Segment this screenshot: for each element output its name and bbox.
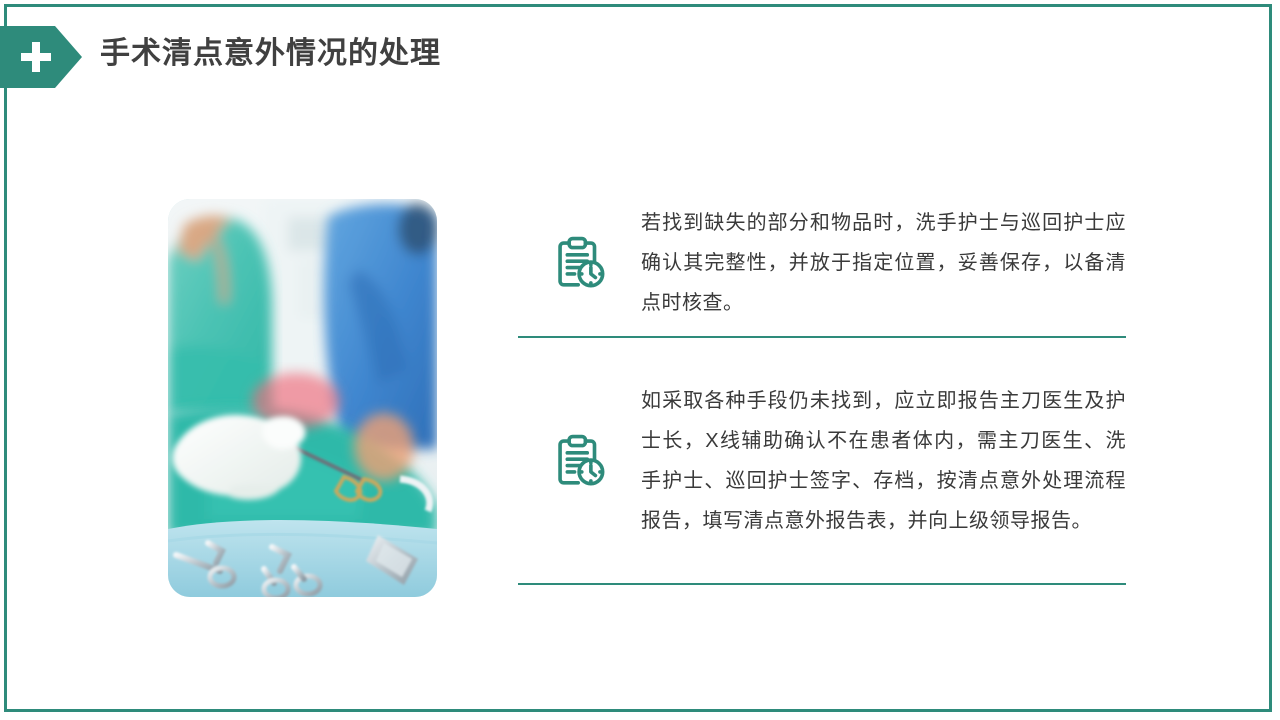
- surgery-photo: [168, 199, 437, 597]
- slide: 手术清点意外情况的处理: [0, 0, 1280, 720]
- list-item-text: 若找到缺失的部分和物品时，洗手护士与巡回护士应确认其完整性，并放于指定位置，妥善…: [641, 203, 1126, 323]
- clipboard-clock-icon-glyph: [551, 432, 609, 490]
- clipboard-clock-icon: [551, 432, 609, 490]
- list-item: 若找到缺失的部分和物品时，洗手护士与巡回护士应确认其完整性，并放于指定位置，妥善…: [518, 190, 1126, 336]
- title-banner: [0, 26, 82, 88]
- surgery-photo-illustration: [168, 199, 437, 597]
- plus-icon: [21, 42, 51, 72]
- clipboard-clock-icon-glyph: [551, 234, 609, 292]
- page-title: 手术清点意外情况的处理: [100, 32, 441, 76]
- slide-header: 手术清点意外情况的处理: [0, 26, 1280, 88]
- clipboard-clock-icon: [551, 234, 609, 292]
- content-column: 若找到缺失的部分和物品时，洗手护士与巡回护士应确认其完整性，并放于指定位置，妥善…: [518, 190, 1126, 585]
- list-item: 如采取各种手段仍未找到，应立即报告主刀医生及护士长，X线辅助确认不在患者体内，需…: [518, 338, 1126, 583]
- divider-line: [518, 583, 1126, 585]
- list-item-text: 如采取各种手段仍未找到，应立即报告主刀医生及护士长，X线辅助确认不在患者体内，需…: [641, 381, 1126, 541]
